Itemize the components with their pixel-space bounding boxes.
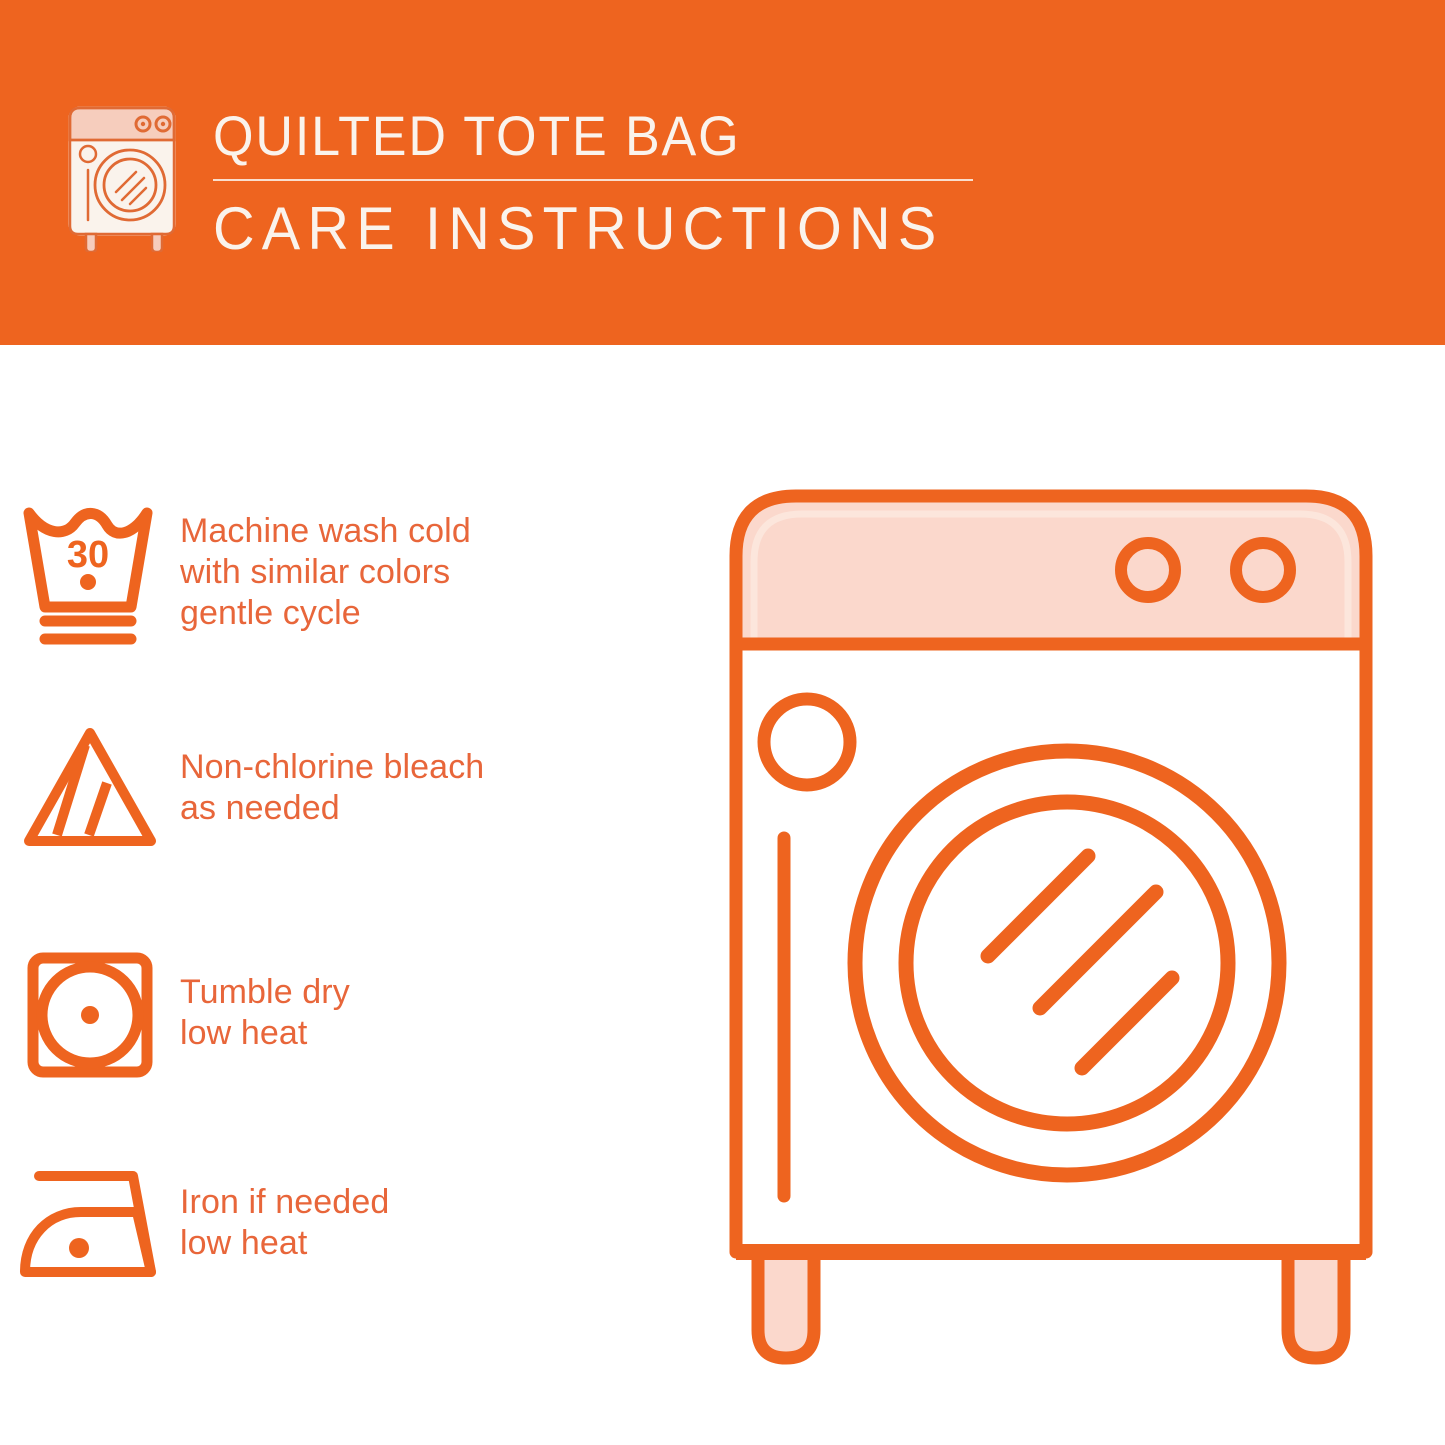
- wash-dot: [80, 574, 96, 590]
- iron-icon: [0, 1150, 180, 1300]
- care-line: Iron if needed: [180, 1182, 389, 1223]
- care-text-bleach: Non-chlorine bleach as needed: [180, 745, 484, 829]
- bleach-triangle-icon: [0, 715, 180, 865]
- header-band: QUILTED TOTE BAG CARE INSTRUCTIONS: [0, 0, 1445, 345]
- front-load-washing-machine-illustration: [710, 470, 1410, 1370]
- care-line: as needed: [180, 788, 484, 829]
- wash-tub-30-icon: 30: [0, 495, 180, 645]
- care-text-tumble-dry: Tumble dry low heat: [180, 970, 350, 1054]
- washing-machine-icon: [64, 100, 186, 252]
- header-divider: [213, 179, 973, 181]
- leg-right: [1288, 1245, 1344, 1358]
- care-text-iron: Iron if needed low heat: [180, 1180, 389, 1264]
- care-line: gentle cycle: [180, 593, 471, 634]
- wash-temperature-label: 30: [67, 534, 109, 576]
- care-line: low heat: [180, 1223, 389, 1264]
- care-row-bleach: Non-chlorine bleach as needed: [0, 715, 700, 865]
- care-line: Tumble dry: [180, 972, 350, 1013]
- care-row-iron: Iron if needed low heat: [0, 1150, 700, 1300]
- care-line: Non-chlorine bleach: [180, 747, 484, 788]
- page-title: QUILTED TOTE BAG: [213, 103, 948, 169]
- care-line: Machine wash cold: [180, 511, 471, 552]
- care-line: with similar colors: [180, 552, 471, 593]
- leg-left: [758, 1245, 814, 1358]
- care-instructions-page: QUILTED TOTE BAG CARE INSTRUCTIONS 30: [0, 0, 1445, 1445]
- tumble-dry-icon: [0, 940, 180, 1090]
- page-subtitle: CARE INSTRUCTIONS: [213, 193, 971, 265]
- care-instruction-list: 30 Machine wash cold with similar colors…: [0, 345, 700, 1445]
- care-row-machine-wash: 30 Machine wash cold with similar colors…: [0, 495, 700, 645]
- care-row-tumble-dry: Tumble dry low heat: [0, 940, 700, 1090]
- care-line: low heat: [180, 1013, 350, 1054]
- care-text-machine-wash: Machine wash cold with similar colors ge…: [180, 509, 471, 634]
- header-text-block: QUILTED TOTE BAG CARE INSTRUCTIONS: [213, 103, 1003, 265]
